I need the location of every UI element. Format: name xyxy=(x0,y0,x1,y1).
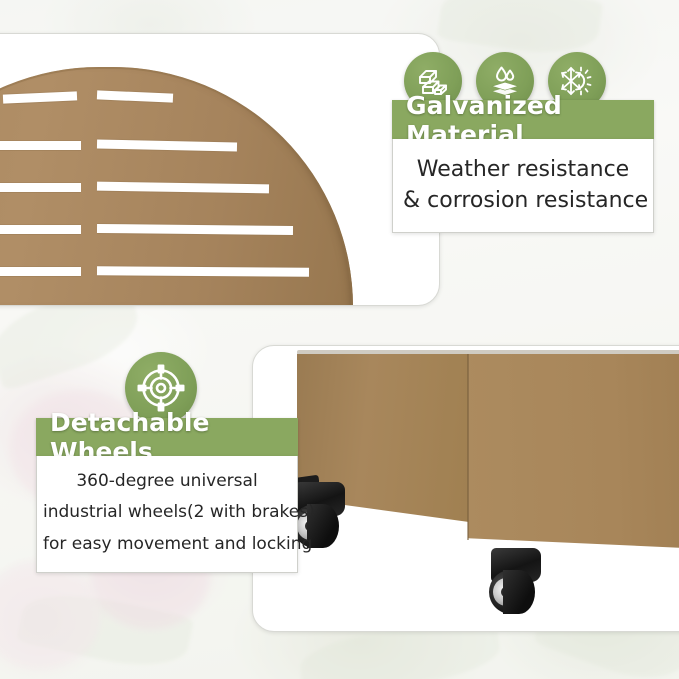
vent-slot xyxy=(0,141,81,150)
product-photo-card-louvers xyxy=(0,33,440,306)
feature-line: Weather resistance xyxy=(403,154,643,185)
feature-line: & corrosion resistance xyxy=(403,185,643,216)
feature-line: 360-degree universal xyxy=(43,466,291,497)
vent-slot xyxy=(0,183,81,192)
feature-title-wheels: Detachable Wheels xyxy=(36,418,298,456)
cabinet-front-panel xyxy=(468,354,679,550)
cabinet-corner-seam xyxy=(467,354,469,540)
louvered-arch-panel xyxy=(0,67,353,306)
feature-line: for easy movement and locking xyxy=(43,529,291,560)
vent-slot xyxy=(97,266,309,276)
feature-callout-wheels: Detachable Wheels 360-degree universal i… xyxy=(36,352,298,573)
vent-slot xyxy=(0,267,81,276)
cabinet-base xyxy=(297,354,679,550)
feature-description-galvanized: Weather resistance & corrosion resistanc… xyxy=(392,139,654,233)
swivel-caster xyxy=(487,548,543,614)
feature-title-galvanized: Galvanized Material xyxy=(392,100,654,139)
feature-callout-galvanized: Galvanized Material Weather resistance &… xyxy=(392,52,654,233)
product-photo-card-casters xyxy=(252,345,679,632)
vent-slot xyxy=(0,225,81,234)
infographic-canvas: Galvanized Material Weather resistance &… xyxy=(0,0,679,679)
caster-tread-cover xyxy=(503,570,535,614)
feature-description-wheels: 360-degree universal industrial wheels(2… xyxy=(36,456,298,573)
feature-line: industrial wheels(2 with brakes) xyxy=(43,497,291,528)
